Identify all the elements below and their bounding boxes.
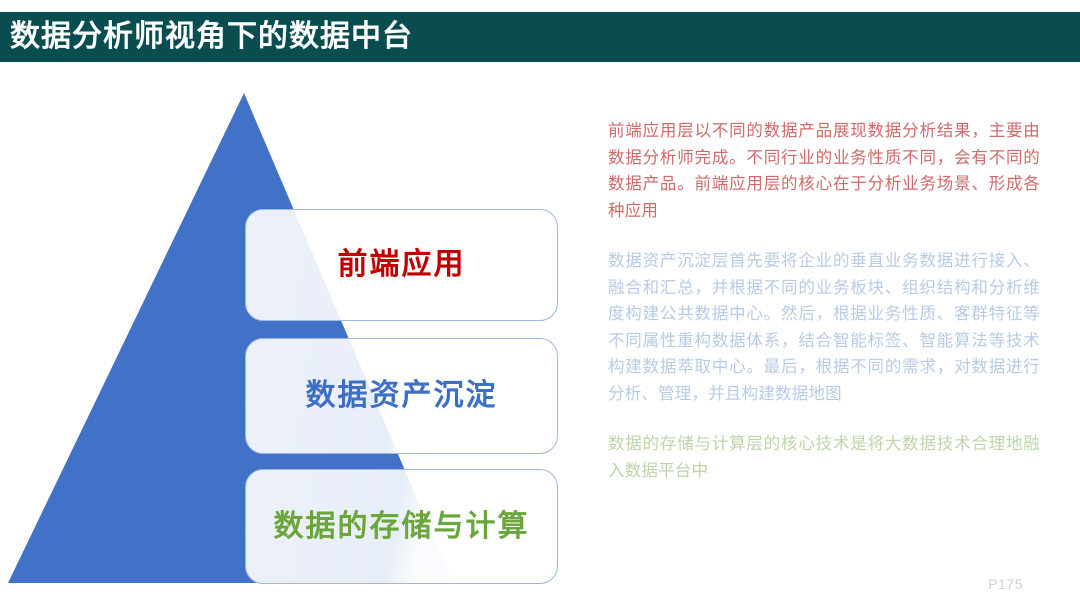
pyramid-layer-storage-and-compute[interactable]: 数据的存储与计算 [245,469,558,584]
pyramid-layer-label: 前端应用 [338,250,466,280]
description-paragraph-storage-and-compute: 数据的存储与计算层的核心技术是将大数据技术合理地融入数据平台中 [608,431,1040,484]
pyramid-layer-data-asset-precipitation[interactable]: 数据资产沉淀 [245,338,558,454]
description-paragraph-frontend-application: 前端应用层以不同的数据产品展现数据分析结果，主要由数据分析师完成。不同行业的业务… [608,118,1040,224]
description-paragraph-data-asset-precipitation: 数据资产沉淀层首先要将企业的垂直业务数据进行接入、融合和汇总，并根据不同的业务板… [608,248,1040,407]
pyramid-layer-label: 数据的存储与计算 [274,512,530,542]
page-title: 数据分析师视角下的数据中台 [0,22,413,52]
pyramid-layer-frontend-application[interactable]: 前端应用 [245,209,558,321]
pyramid-diagram: 前端应用 数据资产沉淀 数据的存储与计算 [0,70,600,608]
pyramid-layer-label: 数据资产沉淀 [306,381,498,411]
page-number: P175 [988,576,1023,592]
slide-title-banner: 数据分析师视角下的数据中台 [0,12,1080,62]
description-column: 前端应用层以不同的数据产品展现数据分析结果，主要由数据分析师完成。不同行业的业务… [608,118,1040,508]
